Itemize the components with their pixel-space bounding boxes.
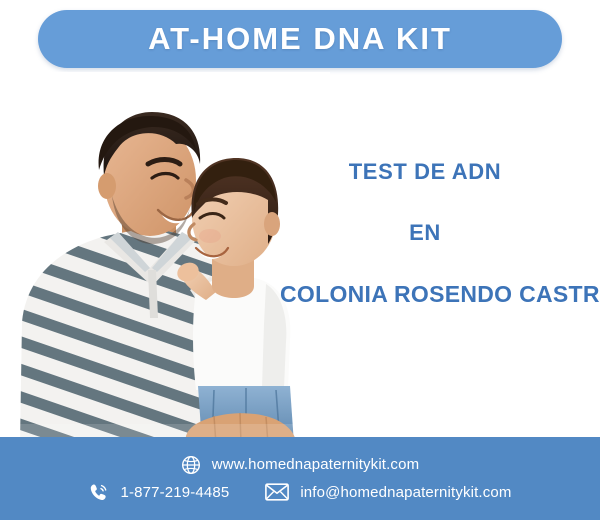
phone-contact-item[interactable]: 1-877-219-4485 (88, 482, 229, 503)
header-banner: AT-HOME DNA KIT (38, 10, 562, 68)
website-contact-item[interactable]: www.homednapaternitykit.com (181, 455, 419, 475)
footer-row-website: www.homednapaternitykit.com (181, 455, 419, 475)
headline-block: TEST DE ADN EN COLONIA ROSENDO CASTRO (250, 160, 600, 306)
headline-line-service: TEST DE ADN (250, 160, 600, 183)
email-address-text: info@homednapaternitykit.com (300, 484, 511, 501)
headline-line-connector: EN (250, 221, 600, 244)
website-url-text: www.homednapaternitykit.com (212, 456, 419, 473)
footer-row-phone-email: 1-877-219-4485 info@homednapaternitykit.… (88, 482, 511, 503)
phone-number-text: 1-877-219-4485 (120, 484, 229, 501)
dna-test-promo-poster: AT-HOME DNA KIT (0, 0, 600, 520)
phone-icon (88, 482, 109, 503)
email-contact-item[interactable]: info@homednapaternitykit.com (265, 483, 511, 501)
header-title: AT-HOME DNA KIT (148, 21, 452, 57)
globe-icon (181, 455, 201, 475)
footer-contact-bar: www.homednapaternitykit.com 1-877-219-44… (0, 437, 600, 520)
envelope-icon (265, 483, 289, 501)
headline-line-location: COLONIA ROSENDO CASTRO (280, 282, 600, 306)
